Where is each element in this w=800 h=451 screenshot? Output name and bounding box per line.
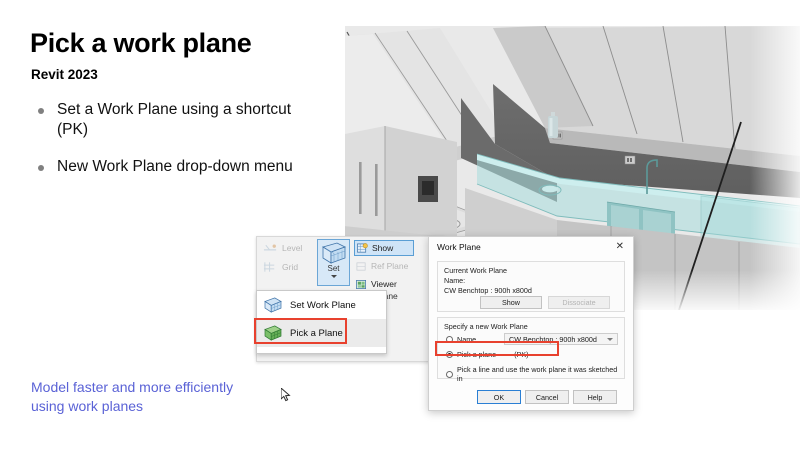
menu-item-set-work-plane[interactable]: Set Work Plane bbox=[257, 291, 386, 319]
ribbon-label-level: Level bbox=[282, 243, 302, 253]
cancel-button[interactable]: Cancel bbox=[525, 390, 569, 404]
radio-option-pick-a-plane[interactable]: Pick a plane (PK) bbox=[446, 350, 529, 359]
ribbon-label-grid: Grid bbox=[282, 262, 298, 272]
ribbon-button-level[interactable]: Level bbox=[263, 242, 315, 254]
footer-line-1: Model faster and more efficiently bbox=[31, 378, 311, 397]
ribbon-label-viewer: Viewer bbox=[371, 279, 397, 289]
chevron-down-icon[interactable] bbox=[331, 275, 337, 278]
radio-option-name[interactable]: Name bbox=[446, 335, 476, 344]
page-subtitle: Revit 2023 bbox=[31, 67, 98, 82]
ribbon-button-show[interactable]: Show bbox=[354, 240, 414, 256]
specify-new-work-plane-group: Specify a new Work Plane Name CW Benchto… bbox=[437, 317, 625, 379]
footer-line-2: using work planes bbox=[31, 397, 311, 416]
work-plane-dialog: Work Plane ✕ Current Work Plane Name: CW… bbox=[428, 236, 634, 411]
ribbon-label-set: Set bbox=[327, 265, 339, 273]
current-work-plane-legend: Current Work Plane bbox=[444, 266, 507, 275]
slide-canvas: Pick a work plane Revit 2023 Set a Work … bbox=[0, 0, 800, 451]
show-plane-icon bbox=[357, 243, 368, 254]
menu-label-set-work-plane: Set Work Plane bbox=[290, 300, 356, 311]
menu-item-pick-a-plane[interactable]: Pick a Plane bbox=[257, 319, 386, 347]
radio-label-pick-a-plane: Pick a plane bbox=[457, 350, 496, 359]
page-title: Pick a work plane bbox=[30, 28, 252, 59]
dialog-footer: OK Cancel Help bbox=[429, 386, 633, 410]
footer-tagline: Model faster and more efficiently using … bbox=[31, 378, 311, 416]
ribbon-label-show: Show bbox=[372, 243, 393, 253]
revit-ribbon-work-plane-panel: Level Grid bbox=[256, 236, 445, 362]
specify-legend: Specify a new Work Plane bbox=[444, 322, 528, 331]
work-plane-cube-icon bbox=[321, 242, 347, 264]
dialog-titlebar: Work Plane ✕ bbox=[429, 237, 633, 257]
show-button[interactable]: Show bbox=[480, 296, 542, 309]
current-work-plane-name-value: CW Benchtop : 900h x800d bbox=[444, 286, 532, 295]
current-work-plane-name-label: Name: bbox=[444, 276, 465, 285]
viewer-icon bbox=[356, 279, 367, 290]
close-icon[interactable]: ✕ bbox=[613, 241, 627, 253]
bullet-list: Set a Work Plane using a shortcut (PK) N… bbox=[31, 100, 296, 194]
ok-button[interactable]: OK bbox=[477, 390, 521, 404]
dissociate-button: Dissociate bbox=[548, 296, 610, 309]
bullet-text: New Work Plane drop-down menu bbox=[57, 157, 293, 177]
dialog-title: Work Plane bbox=[437, 242, 481, 252]
bullet-text: Set a Work Plane using a shortcut (PK) bbox=[57, 100, 296, 140]
list-item: New Work Plane drop-down menu bbox=[31, 157, 296, 177]
bullet-dot-icon bbox=[38, 108, 44, 114]
radio-icon[interactable] bbox=[446, 371, 453, 378]
bullet-dot-icon bbox=[38, 165, 44, 171]
level-icon bbox=[263, 242, 278, 254]
work-plane-name-dropdown[interactable]: CW Benchtop : 900h x800d bbox=[504, 333, 618, 345]
current-work-plane-group: Current Work Plane Name: CW Benchtop : 9… bbox=[437, 261, 625, 312]
set-work-plane-icon bbox=[264, 297, 282, 313]
ribbon-left-column: Level Grid bbox=[263, 242, 315, 280]
ref-plane-icon bbox=[356, 261, 367, 272]
radio-shortcut-pick-a-plane: (PK) bbox=[514, 350, 528, 359]
menu-label-pick-a-plane: Pick a Plane bbox=[290, 328, 343, 339]
grid-icon bbox=[263, 261, 278, 273]
ribbon-button-grid[interactable]: Grid bbox=[263, 261, 315, 273]
help-button[interactable]: Help bbox=[573, 390, 617, 404]
radio-label-name: Name bbox=[457, 335, 476, 344]
list-item: Set a Work Plane using a shortcut (PK) bbox=[31, 100, 296, 140]
work-plane-name-value: CW Benchtop : 900h x800d bbox=[509, 335, 607, 344]
chevron-down-icon[interactable] bbox=[607, 338, 613, 341]
pick-a-plane-icon bbox=[264, 325, 282, 341]
ribbon-label-ref-plane: Ref Plane bbox=[371, 261, 408, 271]
radio-icon[interactable] bbox=[446, 351, 453, 358]
set-work-plane-dropdown-menu: Set Work Plane Pick a Plane bbox=[256, 290, 387, 354]
mouse-cursor-icon bbox=[281, 388, 292, 402]
ribbon-button-set[interactable]: Set bbox=[317, 239, 350, 286]
radio-icon[interactable] bbox=[446, 336, 453, 343]
radio-option-pick-a-line[interactable]: Pick a line and use the work plane it wa… bbox=[446, 365, 624, 383]
radio-label-pick-a-line: Pick a line and use the work plane it wa… bbox=[457, 365, 624, 383]
ribbon-right-column: Show Ref Plane bbox=[354, 240, 436, 294]
ribbon-button-ref-plane[interactable]: Ref Plane bbox=[354, 258, 436, 274]
